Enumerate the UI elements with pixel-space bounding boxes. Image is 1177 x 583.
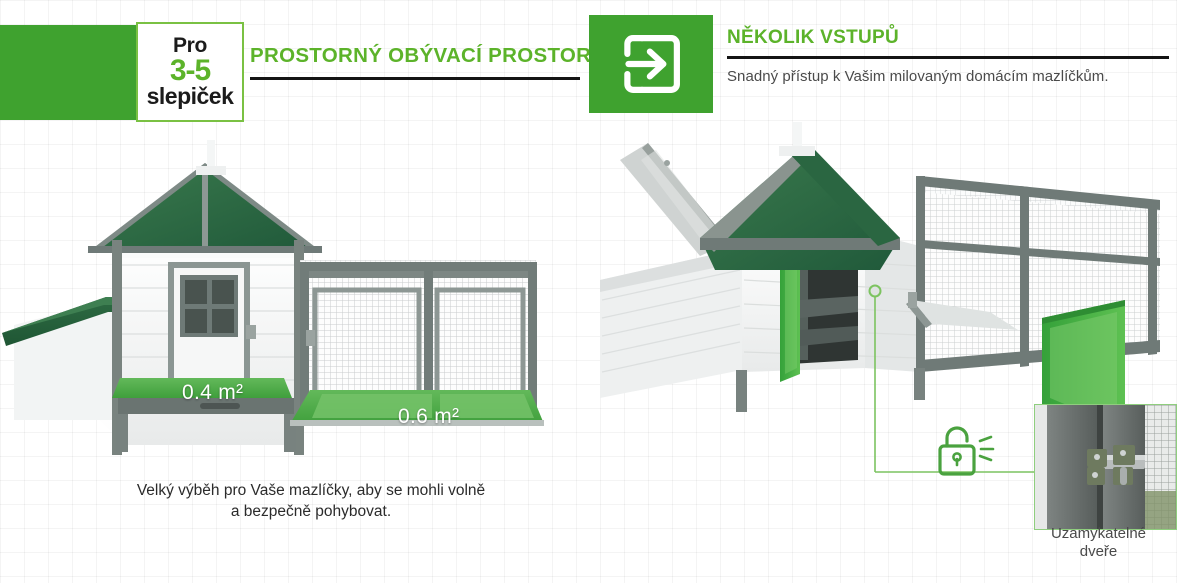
infographic-canvas: 0.4 m² 0.6 m² Pro 3-5 slepiček PROSTORNÝ… xyxy=(0,0,1177,583)
badge-line-count: 3-5 xyxy=(170,56,210,87)
right-coop-illustration xyxy=(600,122,1160,438)
inset-caption-line-1: Uzamykatelné xyxy=(1020,525,1177,543)
enter-arrow-icon-box xyxy=(589,15,713,113)
enter-arrow-icon xyxy=(615,28,687,100)
badge-line-hens: slepiček xyxy=(147,85,234,108)
caption-line-1: Velký výběh pro Vaše mazlíčky, aby se mo… xyxy=(76,481,546,502)
feature-title: NĚKOLIK VSTUPŮ xyxy=(727,27,1169,49)
header-green-block xyxy=(0,25,140,120)
chicken-capacity-badge: Pro 3-5 slepiček xyxy=(136,22,244,122)
door-latch-inset xyxy=(1034,404,1177,530)
feature-subtitle: Snadný přístup k Vašim milovaným domácím… xyxy=(727,68,1169,85)
left-coop-illustration xyxy=(2,140,544,455)
caption-line-2: a bezpečně pohybovat. xyxy=(76,502,546,523)
feature-title: PROSTORNÝ OBÝVACÍ PROSTOR xyxy=(250,44,580,68)
inset-caption-line-2: dveře xyxy=(1020,543,1177,561)
feature-spacious-living: PROSTORNÝ OBÝVACÍ PROSTOR xyxy=(250,44,580,80)
feature-divider xyxy=(727,56,1169,59)
feature-divider xyxy=(250,77,580,80)
inset-caption: Uzamykatelné dveře xyxy=(1020,525,1177,562)
feature-multiple-entries: NĚKOLIK VSTUPŮ Snadný přístup k Vašim mi… xyxy=(727,27,1169,85)
latch-closeup-illustration xyxy=(1035,405,1176,529)
left-panel-caption: Velký výběh pro Vaše mazlíčky, aby se mo… xyxy=(76,481,546,523)
